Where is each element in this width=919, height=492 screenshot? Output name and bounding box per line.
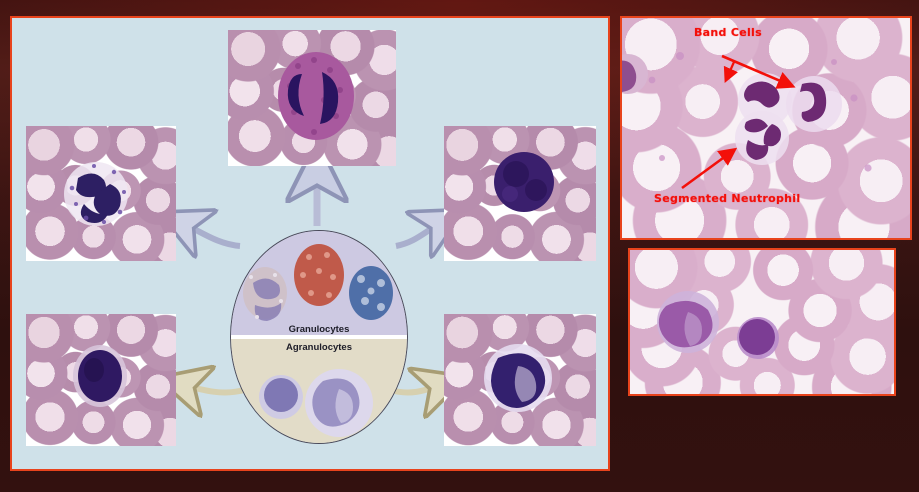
micrograph-basophil: Basophil: [444, 126, 596, 261]
micrograph-eosinophil: Eosinophil: [228, 30, 396, 166]
cell-classification-oval: Granulocytes Agranulocytes: [230, 230, 408, 444]
photo-cells: [630, 250, 894, 394]
micrograph-neutrophil: Neutrophil: [26, 126, 176, 261]
band-cells-photo-panel: Band Cells Segmented Neutrophil: [620, 16, 912, 240]
schematic-cells: [231, 231, 407, 443]
wbc-diagram-panel: Neutrophil Eosinophil: [10, 16, 610, 471]
band-cell-photo-content: [622, 18, 910, 238]
band-cells-arrow-left: [726, 62, 734, 80]
segmented-neutrophil-arrow: [682, 150, 734, 188]
eosinophil-schematic: [294, 244, 344, 306]
agranulocytes-label: Agranulocytes: [231, 342, 407, 353]
monocyte-lymphocyte-photo-panel: [628, 248, 896, 396]
slide-canvas: Neutrophil Eosinophil: [0, 0, 919, 492]
granulocytes-label: Granulocytes: [231, 324, 407, 335]
basophil-schematic: [349, 266, 393, 320]
neutrophil-schematic: [243, 267, 287, 321]
lymphocyte-schematic: [259, 375, 303, 419]
monocyte-schematic: [305, 369, 373, 437]
micrograph-lymphocyte: Lymphocyte: [26, 314, 176, 446]
micrograph-monocyte: Monocyte: [444, 314, 596, 446]
annotation-segmented-neutrophil: Segmented Neutrophil: [654, 192, 800, 205]
annotation-band-cells: Band Cells: [694, 26, 762, 39]
